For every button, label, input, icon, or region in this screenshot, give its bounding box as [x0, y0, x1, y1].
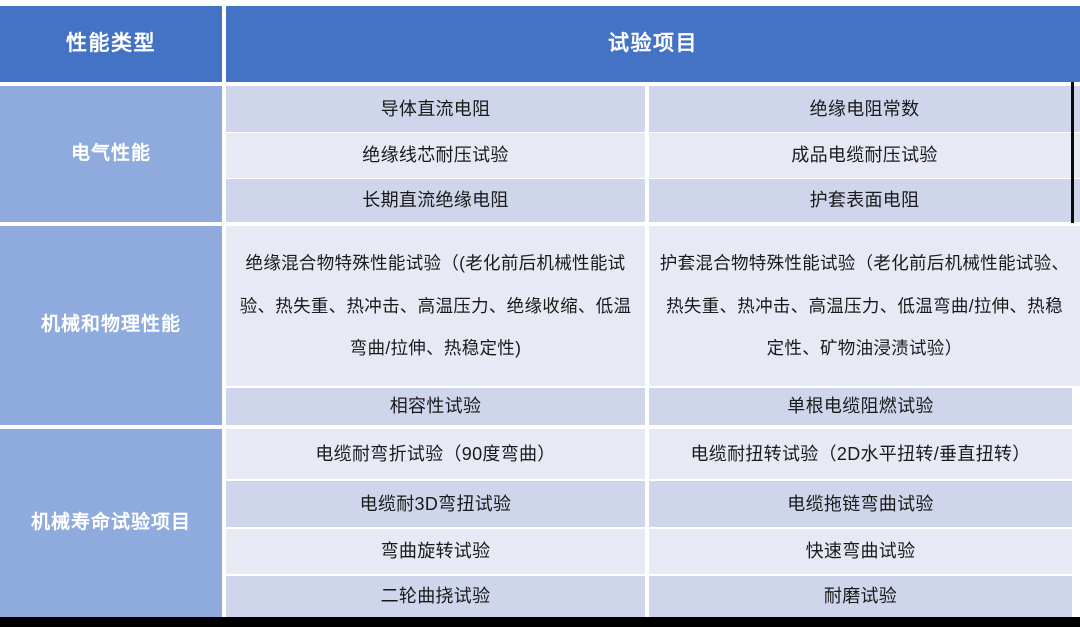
table-cell: 电缆拖链弯曲试验: [649, 481, 1072, 527]
right-edge-rule: [1071, 82, 1074, 223]
table-cell: 绝缘混合物特殊性能试验（(老化前后机械性能试验、热失重、热冲击、高温压力、绝缘收…: [226, 226, 645, 386]
table-cell: 相容性试验: [226, 388, 645, 425]
table-cell: 成品电缆耐压试验: [649, 133, 1080, 178]
table-cell: 护套表面电阻: [649, 179, 1080, 222]
bottom-crop-bar: [0, 617, 1080, 627]
performance-test-items-table: 性能类型 试验项目 电气性能 导体直流电阻 绝缘电阻常数 绝缘线芯耐压试验 成品…: [0, 0, 1080, 627]
table-cell: 单根电缆阻燃试验: [649, 388, 1072, 425]
table-cell: 快速弯曲试验: [649, 529, 1072, 574]
table-cell: 护套混合物特殊性能试验（老化前后机械性能试验、热失重、热冲击、高温压力、低温弯曲…: [649, 226, 1080, 386]
table-cell: 电缆耐弯折试验（90度弯曲）: [226, 429, 645, 479]
table-cell-text: 护套混合物特殊性能试验（老化前后机械性能试验、热失重、热冲击、高温压力、低温弯曲…: [649, 236, 1080, 377]
header-test-items: 试验项目: [226, 6, 1080, 82]
group-column-divider: [222, 86, 226, 617]
group-label-electrical: 电气性能: [0, 86, 222, 222]
column-divider: [645, 86, 649, 617]
table-cell: 电缆耐3D弯扭试验: [226, 481, 645, 527]
table-cell: 绝缘电阻常数: [649, 86, 1080, 132]
table-cell: 绝缘线芯耐压试验: [226, 133, 645, 178]
table-cell-text: 绝缘混合物特殊性能试验（(老化前后机械性能试验、热失重、热冲击、高温压力、绝缘收…: [226, 236, 645, 377]
table-cell: 电缆耐扭转试验（2D水平扭转/垂直扭转）: [649, 429, 1072, 479]
table-cell: 导体直流电阻: [226, 86, 645, 132]
table-cell: 耐磨试验: [649, 576, 1072, 617]
table-cell: 长期直流绝缘电阻: [226, 179, 645, 222]
table-cell: 弯曲旋转试验: [226, 529, 645, 574]
header-performance-type: 性能类型: [0, 6, 222, 82]
group-label-mechanical-life: 机械寿命试验项目: [0, 429, 222, 617]
group-label-mechanical-physical: 机械和物理性能: [0, 226, 222, 425]
table-cell: 二轮曲挠试验: [226, 576, 645, 617]
